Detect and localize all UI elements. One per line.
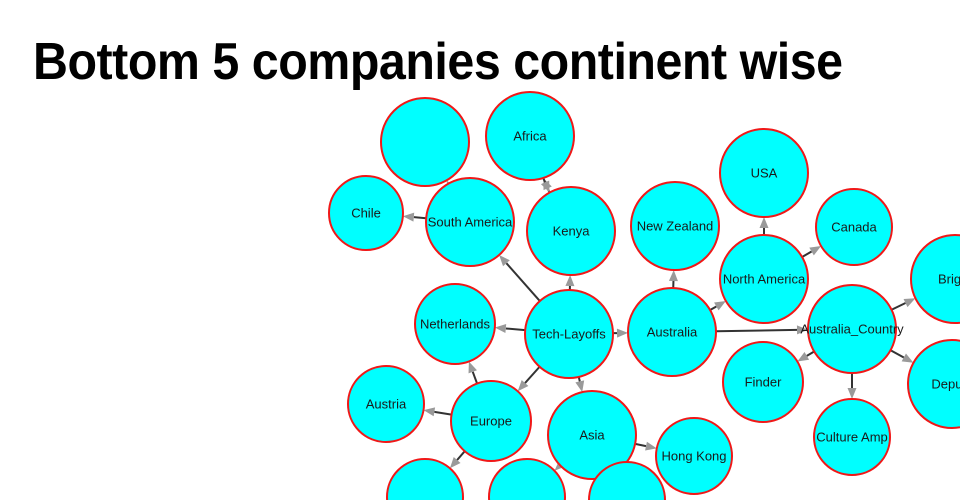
node-label: Africa (513, 128, 547, 143)
node-layer: Tech-LayoffsSouth AmericaChileAfricaKeny… (329, 92, 960, 500)
network-graph: Tech-LayoffsSouth AmericaChileAfricaKeny… (0, 0, 960, 500)
node-circle[interactable] (381, 98, 469, 186)
node-label: Canada (831, 219, 877, 234)
graph-edge (807, 352, 814, 356)
graph-edge (716, 330, 797, 331)
node-label: Netherlands (420, 316, 491, 331)
graph-node[interactable]: South America (426, 178, 514, 266)
edge-arrowhead (617, 329, 628, 338)
node-label: Chile (351, 205, 381, 220)
graph-edge (525, 367, 540, 383)
graph-node[interactable]: Austria (348, 366, 424, 442)
node-label: Austria (366, 396, 407, 411)
edge-arrowhead (403, 213, 414, 222)
node-label: South America (428, 214, 513, 229)
graph-edge (892, 303, 906, 310)
edge-arrowhead (469, 362, 477, 374)
graph-edge (635, 444, 646, 446)
node-label: Finder (745, 374, 783, 389)
edge-arrowhead (575, 380, 584, 392)
node-label: Asia (579, 427, 605, 442)
graph-node[interactable]: Finder (723, 342, 803, 422)
edge-arrowhead (645, 442, 657, 451)
node-circle[interactable] (489, 459, 565, 500)
graph-node[interactable]: Culture Amp (814, 399, 890, 475)
edge-arrowhead (760, 217, 769, 228)
graph-edge (434, 412, 451, 415)
node-label: USA (751, 165, 778, 180)
node-label: North America (723, 271, 806, 286)
node-label: Deputy (931, 376, 960, 391)
node-label: Australia_Country (800, 321, 904, 336)
graph-edge (414, 217, 426, 218)
node-label: Culture Amp (816, 429, 888, 444)
graph-node[interactable]: Hong Kong (656, 418, 732, 494)
graph-edge (473, 372, 477, 384)
node-label: Australia (647, 324, 698, 339)
graph-edge (506, 328, 525, 330)
graph-node[interactable]: New Zealand (631, 182, 719, 270)
edge-arrowhead (495, 324, 506, 333)
edge-arrowhead (424, 407, 436, 416)
graph-node[interactable]: Australia (628, 288, 716, 376)
graph-edge (710, 306, 716, 310)
graph-node[interactable]: North America (720, 235, 808, 323)
graph-node[interactable]: Chile (329, 176, 403, 250)
graph-edge (891, 350, 904, 357)
graph-node[interactable]: Deputy (908, 340, 960, 428)
graph-node[interactable]: Africa (486, 92, 574, 180)
node-label: New Zealand (637, 218, 714, 233)
graph-node[interactable]: Canada (816, 189, 892, 265)
graph-node[interactable]: Bright (911, 235, 960, 323)
graph-node[interactable]: Tech-Layoffs (525, 290, 613, 378)
graph-node[interactable]: Netherlands (415, 284, 495, 364)
graph-node[interactable]: Europe (451, 381, 531, 461)
node-label: Kenya (553, 223, 591, 238)
graph-node[interactable]: USA (720, 129, 808, 217)
graph-node[interactable] (381, 98, 469, 186)
edge-arrowhead (797, 352, 809, 361)
graph-node[interactable]: Australia_Country (800, 285, 904, 373)
graph-edge (506, 263, 539, 301)
graph-edge (457, 451, 465, 460)
edge-arrowhead (848, 388, 857, 399)
graph-node[interactable]: Kenya (527, 187, 615, 275)
edge-arrowhead (541, 181, 549, 193)
node-label: Tech-Layoffs (532, 326, 606, 341)
node-label: Europe (470, 413, 512, 428)
edge-arrowhead (669, 270, 678, 281)
node-label: Bright (938, 271, 960, 286)
node-label: Hong Kong (661, 448, 726, 463)
edge-arrowhead (565, 275, 574, 286)
graph-edge (802, 252, 811, 257)
graph-svg: Tech-LayoffsSouth AmericaChileAfricaKeny… (0, 0, 960, 500)
graph-node[interactable] (489, 459, 565, 500)
